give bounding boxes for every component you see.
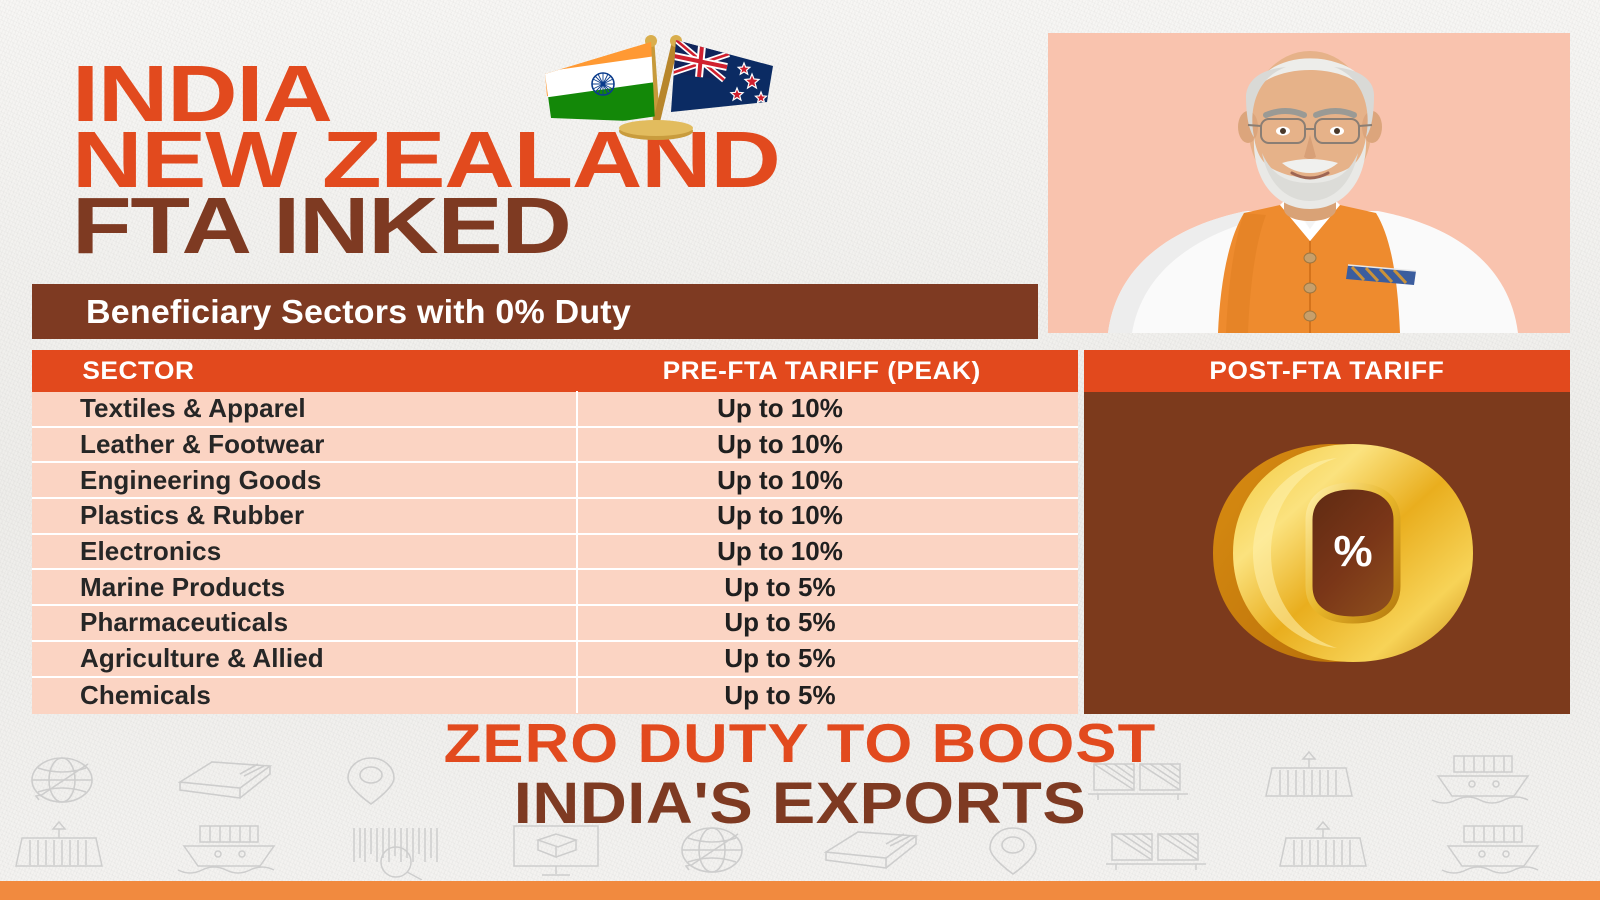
cell-sector: Electronics bbox=[32, 534, 578, 570]
footer-slogan: ZERO DUTY TO BOOST INDIA'S EXPORTS bbox=[0, 716, 1600, 833]
bottom-accent-strip bbox=[0, 881, 1600, 900]
column-header-sector: SECTOR bbox=[32, 357, 605, 386]
cell-sector: Chemicals bbox=[32, 678, 578, 714]
table-row: Engineering GoodsUp to 10% bbox=[32, 463, 1078, 499]
cell-pre-fta-tariff: Up to 10% bbox=[578, 465, 1078, 496]
percent-symbol: % bbox=[1333, 527, 1372, 576]
slogan-line-2: INDIA'S EXPORTS bbox=[0, 775, 1600, 833]
slogan-line-1: ZERO DUTY TO BOOST bbox=[0, 716, 1600, 771]
crossed-flags-graphic bbox=[505, 8, 805, 158]
table-row: ElectronicsUp to 10% bbox=[32, 535, 1078, 571]
table-row: PharmaceuticalsUp to 5% bbox=[32, 606, 1078, 642]
new-zealand-flag bbox=[671, 40, 773, 112]
table-row: Leather & FootwearUp to 10% bbox=[32, 428, 1078, 464]
post-fta-zero-panel: % bbox=[1084, 392, 1570, 714]
cell-sector: Marine Products bbox=[32, 569, 578, 605]
cell-pre-fta-tariff: Up to 5% bbox=[578, 680, 1078, 711]
cell-pre-fta-tariff: Up to 5% bbox=[578, 607, 1078, 638]
subtitle-bar: Beneficiary Sectors with 0% Duty bbox=[32, 284, 1038, 339]
cell-sector: Engineering Goods bbox=[32, 462, 578, 498]
subtitle-text: Beneficiary Sectors with 0% Duty bbox=[86, 293, 631, 331]
column-header-post-fta: POST-FTA TARIFF bbox=[1084, 350, 1570, 392]
table-row: Marine ProductsUp to 5% bbox=[32, 570, 1078, 606]
tariff-table: SECTOR PRE-FTA TARIFF (PEAK) Textiles & … bbox=[32, 350, 1078, 714]
table-row: Textiles & ApparelUp to 10% bbox=[32, 392, 1078, 428]
cell-pre-fta-tariff: Up to 10% bbox=[578, 429, 1078, 460]
cell-sector: Plastics & Rubber bbox=[32, 498, 578, 534]
cell-sector: Pharmaceuticals bbox=[32, 605, 578, 641]
cell-pre-fta-tariff: Up to 10% bbox=[578, 536, 1078, 567]
poster-canvas: INDIA NEW ZEALAND FTA INKED bbox=[0, 0, 1600, 900]
table-row: ChemicalsUp to 5% bbox=[32, 678, 1078, 714]
cell-sector: Leather & Footwear bbox=[32, 427, 578, 463]
table-row: Plastics & RubberUp to 10% bbox=[32, 499, 1078, 535]
prime-minister-portrait bbox=[1048, 33, 1570, 333]
table-header-row: SECTOR PRE-FTA TARIFF (PEAK) bbox=[32, 350, 1078, 392]
table-body: Textiles & ApparelUp to 10%Leather & Foo… bbox=[32, 392, 1078, 714]
column-header-post-fta-label: POST-FTA TARIFF bbox=[1209, 357, 1444, 386]
cell-pre-fta-tariff: Up to 10% bbox=[578, 393, 1078, 424]
gold-zero-graphic: % bbox=[1127, 418, 1527, 688]
column-header-pre-fta: PRE-FTA TARIFF (PEAK) bbox=[566, 357, 1091, 386]
cell-sector: Textiles & Apparel bbox=[32, 391, 578, 427]
cell-pre-fta-tariff: Up to 5% bbox=[578, 572, 1078, 603]
cell-pre-fta-tariff: Up to 10% bbox=[578, 500, 1078, 531]
table-row: Agriculture & AlliedUp to 5% bbox=[32, 642, 1078, 678]
cell-pre-fta-tariff: Up to 5% bbox=[578, 643, 1078, 674]
cell-sector: Agriculture & Allied bbox=[32, 641, 578, 677]
